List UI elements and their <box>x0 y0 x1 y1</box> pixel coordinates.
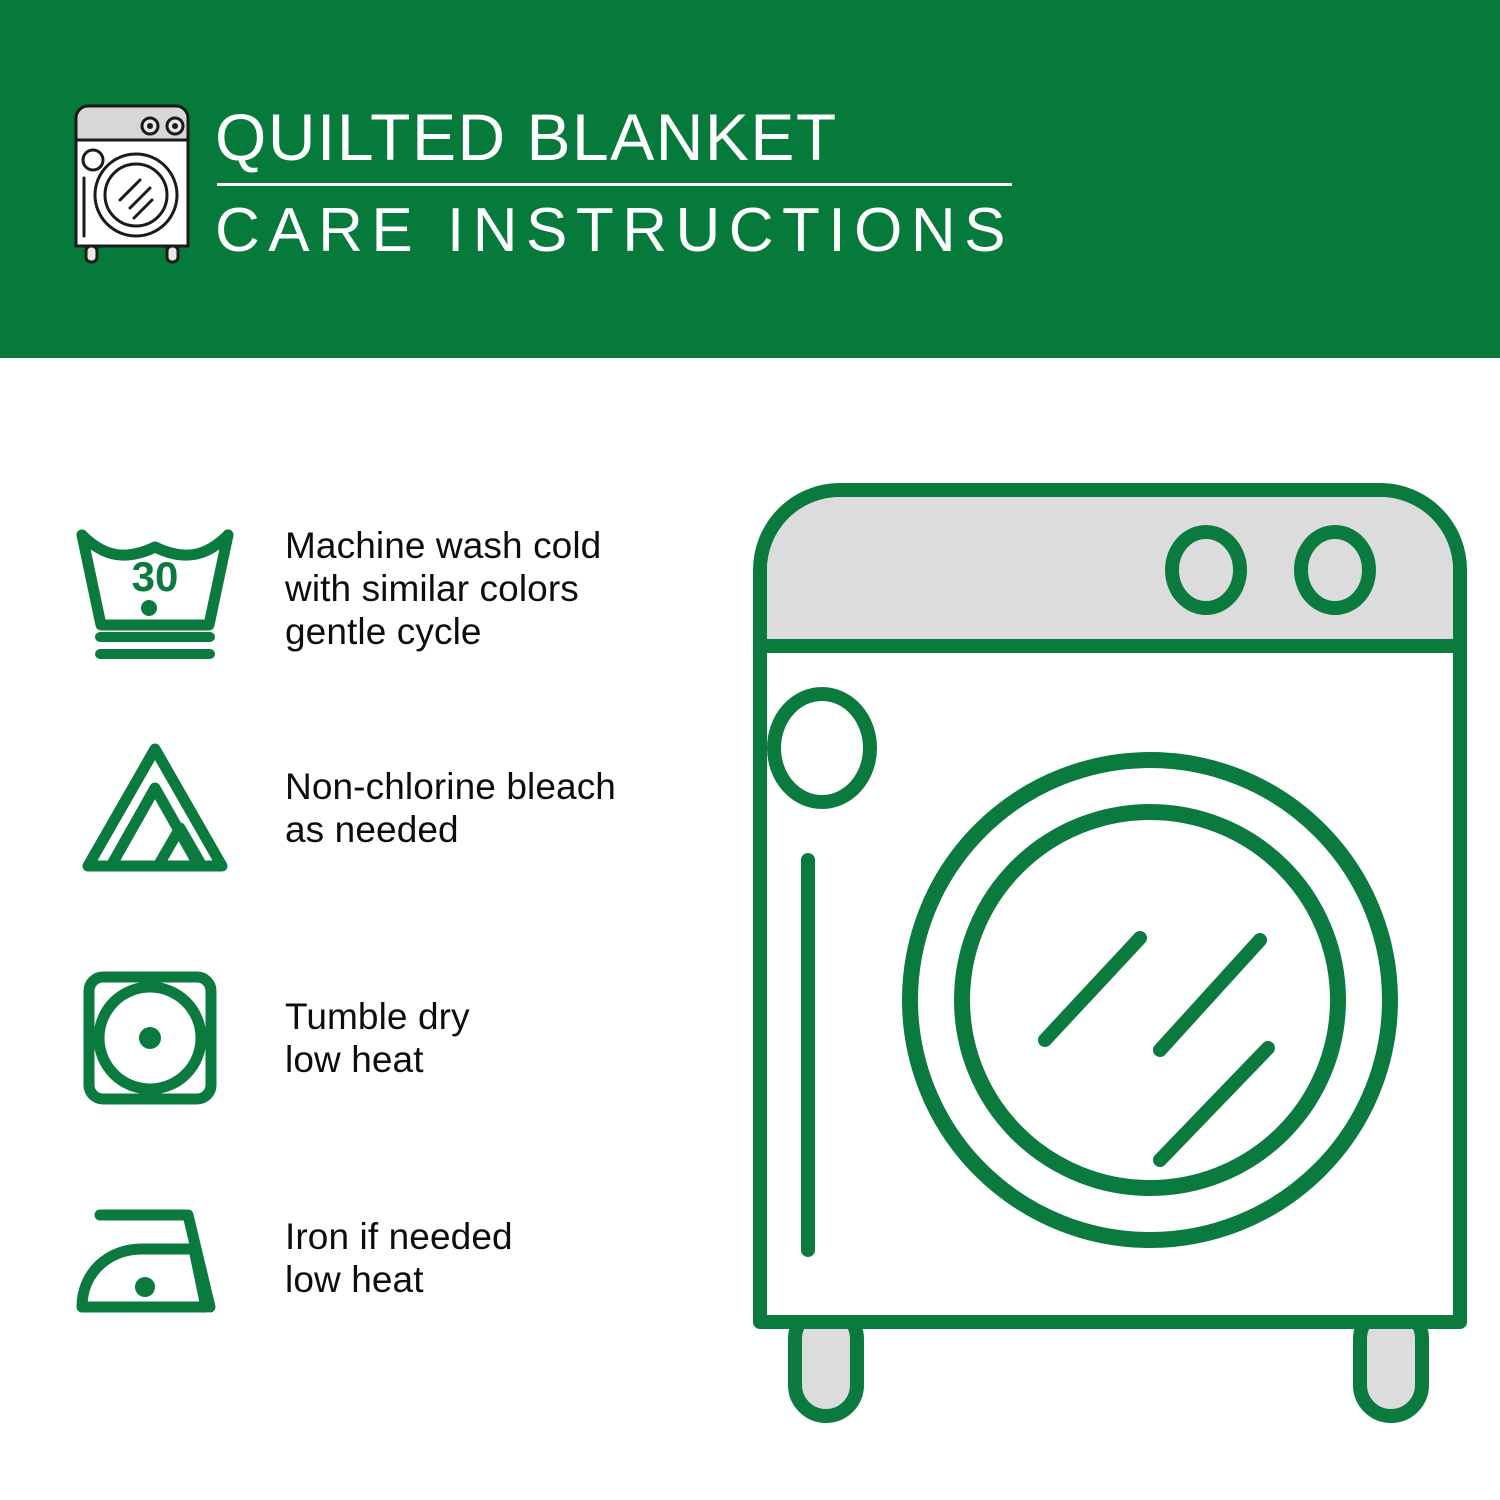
iron-low-heat-icon <box>70 1178 250 1338</box>
page-title: QUILTED BLANKET <box>215 98 1025 176</box>
header-title-block: QUILTED BLANKET CARE INSTRUCTIONS <box>215 98 1025 268</box>
care-row-tumble-dry: Tumble dry low heat <box>0 958 740 1118</box>
washing-machine-icon <box>62 100 202 268</box>
care-row-machine-wash: 30 Machine wash cold with similar colors… <box>0 508 740 668</box>
wash-tub-30-icon: 30 <box>70 508 250 668</box>
care-instruction-list: 30 Machine wash cold with similar colors… <box>0 358 740 1500</box>
page-subtitle: CARE INSTRUCTIONS <box>215 194 1025 268</box>
wash-temperature-label: 30 <box>132 553 179 600</box>
care-row-iron: Iron if needed low heat <box>0 1178 740 1338</box>
title-divider <box>217 183 1012 186</box>
care-text-bleach: Non-chlorine bleach as needed <box>285 765 616 851</box>
care-text-machine-wash: Machine wash cold with similar colors ge… <box>285 524 601 653</box>
machine-control-panel <box>767 497 1453 642</box>
care-instructions-page: QUILTED BLANKET CARE INSTRUCTIONS 30 <box>0 0 1500 1500</box>
care-text-tumble-dry: Tumble dry low heat <box>285 995 470 1081</box>
front-load-washing-machine-illustration <box>740 470 1480 1430</box>
care-text-iron: Iron if needed low heat <box>285 1215 513 1301</box>
care-row-bleach: Non-chlorine bleach as needed <box>0 728 740 888</box>
non-chlorine-bleach-triangle-icon <box>70 728 250 888</box>
header-banner: QUILTED BLANKET CARE INSTRUCTIONS <box>0 0 1500 358</box>
tumble-dry-low-icon <box>70 958 250 1118</box>
